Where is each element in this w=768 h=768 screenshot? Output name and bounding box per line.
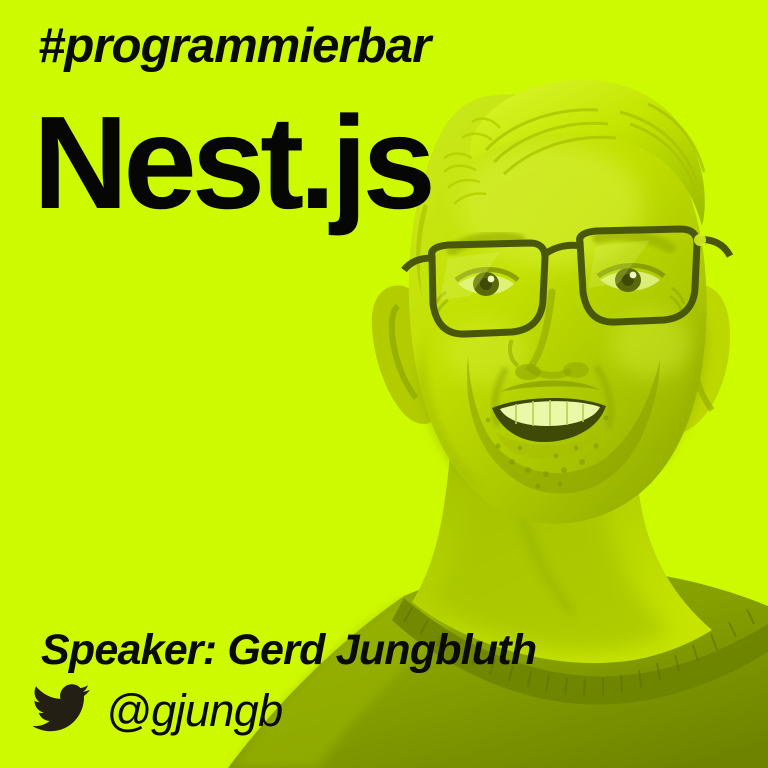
twitter-bird-icon[interactable] (30, 683, 92, 735)
twitter-handle-row[interactable]: @gjungb (30, 683, 283, 735)
speaker-name-line: Speaker: Gerd Jungbluth (41, 629, 536, 672)
podcast-hashtag: #programmierbar (38, 22, 430, 71)
talk-title: Nest.js (33, 92, 431, 235)
twitter-handle[interactable]: @gjungb (106, 688, 283, 733)
talk-promo-card: #programmierbar Nest.js Speaker: Gerd Ju… (0, 0, 768, 768)
